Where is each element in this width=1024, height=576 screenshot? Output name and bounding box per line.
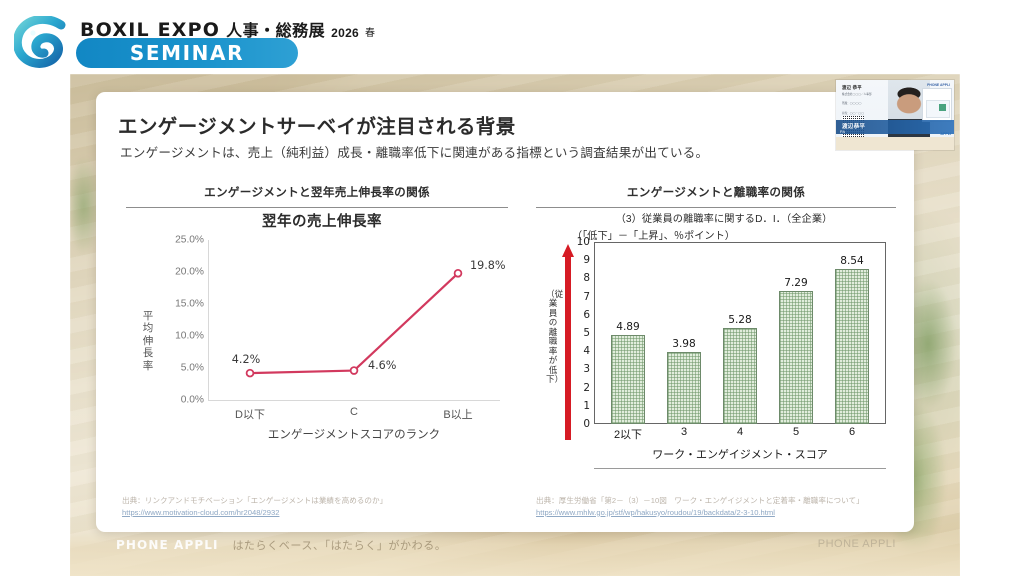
bar-chart-y-tick: 5 (583, 327, 590, 339)
section-header-left: エンゲージメントと翌年売上伸長率の関係 (126, 184, 508, 208)
line-chart-y-tick: 20.0% (175, 267, 204, 278)
expo-year: 2026 (331, 26, 359, 41)
bar-chart-x-tick: 5 (777, 426, 815, 442)
phone-appli-watermark: PHONE APPLI (818, 538, 896, 550)
bar-chart-x-tick: 6 (833, 426, 871, 442)
line-chart-y-axis-label: 平均伸長率 (140, 310, 156, 372)
up-arrow-icon (562, 244, 574, 440)
seminar-pill: SEMINAR (76, 38, 298, 68)
line-chart-title: 翌年の売上伸長率 (118, 210, 526, 231)
footnote-left: 出典：リンクアンドモチベーション「エンゲージメントは業績を高めるのか」 http… (122, 495, 522, 518)
bar-chart-bar-group: 8.54 (833, 242, 871, 424)
bar-chart-x-tick: 4 (721, 426, 759, 442)
line-chart-x-axis-line (208, 400, 500, 401)
bar-chart-bar-group: 5.28 (721, 242, 759, 424)
line-chart-y-tick: 5.0% (181, 363, 204, 374)
section-header-left-label: エンゲージメントと翌年売上伸長率の関係 (126, 184, 508, 200)
line-chart-y-tick: 15.0% (175, 299, 204, 310)
bar-chart-y-tick: 7 (583, 291, 590, 303)
bar-chart-title: （3）従業員の離職率に関するD．I．（全企業） (550, 210, 898, 225)
slide-subtitle: エンゲージメントは、売上（純利益）成長・離職率低下に関連がある指標という調査結果… (120, 142, 708, 161)
bar-chart-bars: 4.893.985.287.298.54 (594, 242, 886, 424)
bar-chart-y-tick: 6 (583, 309, 590, 321)
presentation-slide: エンゲージメントサーベイが注目される背景 エンゲージメントは、売上（純利益）成長… (96, 92, 914, 532)
section-header-right-label: エンゲージメントと離職率の関係 (536, 184, 896, 200)
bar-chart-x-tick: 2以下 (609, 426, 647, 442)
bar-chart-y-tick: 9 (583, 254, 590, 266)
pip-bottom-bar (836, 137, 954, 150)
section-divider-right (536, 207, 896, 208)
bar-chart-y-tick: 8 (583, 272, 590, 284)
line-chart: 翌年の売上伸長率 平均伸長率 0.0%5.0%10.0%15.0%20.0%25… (126, 210, 526, 460)
pip-meta-line-1: 所属：◯◯◯◯ (842, 102, 890, 106)
pip-panel-accent (939, 104, 946, 111)
pip-panel-label: PHONE APPLI (927, 83, 950, 87)
bar-chart-y-tick: 3 (583, 363, 590, 375)
bar-chart-y-ticks: 012345678910 (574, 242, 590, 424)
expo-season: 春 (365, 24, 375, 41)
bar-chart-value-label: 5.28 (728, 314, 752, 326)
line-chart-plot: 平均伸長率 0.0%5.0%10.0%15.0%20.0%25.0% 4.2%4… (126, 240, 526, 422)
line-chart-data-label: 4.6% (368, 359, 396, 372)
footnote-right: 出典：厚生労働省「第2－（3）－10図 ワーク・エンゲイジメントと定着率・離職率… (536, 495, 906, 518)
bar-chart-y-tick: 2 (583, 382, 590, 394)
bar-chart-y-axis-label: （従業員の離職率が低下） (546, 290, 560, 385)
footnote-right-link[interactable]: https://www.mhlw.go.jp/stf/wp/hakusyo/ro… (536, 508, 775, 517)
bar-chart-bar (667, 352, 701, 424)
line-chart-data-label: 4.2% (232, 353, 260, 366)
bar-chart-y-tick: 4 (583, 345, 590, 357)
footnote-left-link[interactable]: https://www.motivation-cloud.com/hr2048/… (122, 508, 279, 517)
pip-panel-box (926, 100, 950, 118)
section-header-right: エンゲージメントと離職率の関係 (536, 184, 896, 208)
line-chart-x-axis-label: エンゲージメントスコアのランク (208, 426, 500, 442)
line-chart-x-tick: C (350, 406, 358, 418)
bar-chart-bar (611, 335, 645, 424)
pip-speaker-name: 渡辺 恭平 (842, 85, 890, 91)
webcam-pip[interactable]: 渡辺 恭平 株式会社◯◯◯／人事部 所属：◯◯◯◯ 担当：◯◯・◯◯ PHONE… (836, 80, 954, 150)
boxil-swirl-logo-icon (14, 16, 76, 68)
line-chart-x-tick: D以下 (235, 406, 265, 422)
pip-speaker-role: 株式会社◯◯◯／人事部 (842, 93, 890, 97)
line-chart-y-tick: 10.0% (175, 331, 204, 342)
slide-title: エンゲージメントサーベイが注目される背景 (118, 110, 516, 139)
phone-appli-branding: PHONE APPLI はたらくベース、「はたらく」がかわる。 (116, 537, 446, 553)
line-chart-data-label: 19.8% (470, 259, 506, 272)
pip-badge-prefix: PA (840, 130, 845, 134)
bar-chart-value-label: 3.98 (672, 338, 696, 350)
bar-chart-bar (779, 291, 813, 424)
line-chart-y-tick: 0.0% (181, 395, 204, 406)
bar-chart: （3）従業員の離職率に関するD．I．（全企業） （「低下」－「上昇」、％ポイント… (536, 210, 898, 460)
bar-chart-baseline (594, 468, 886, 469)
bar-chart-subtitle: （「低下」－「上昇」、％ポイント） (572, 227, 898, 242)
line-chart-y-tick: 25.0% (175, 235, 204, 246)
bar-chart-y-tick: 1 (583, 400, 590, 412)
bar-chart-plot: （従業員の離職率が低下） 012345678910 4.893.985.287.… (536, 242, 898, 447)
seminar-pill-label: SEMINAR (130, 41, 244, 65)
section-divider-left (126, 207, 508, 208)
pip-speaker-card: 渡辺 恭平 株式会社◯◯◯／人事部 所属：◯◯◯◯ 担当：◯◯・◯◯ (842, 85, 890, 116)
bar-chart-x-ticks: 2以下3456 (594, 426, 886, 442)
bar-chart-value-label: 4.89 (616, 321, 640, 333)
footnote-right-source: 出典：厚生労働省「第2－（3）－10図 ワーク・エンゲイジメントと定着率・離職率… (536, 495, 906, 506)
line-chart-series (208, 240, 500, 400)
top-banner: BOXIL EXPO 人事・総務展 2026 春 SEMINAR (0, 0, 1024, 74)
bar-chart-bar-group: 4.89 (609, 242, 647, 424)
bar-chart-value-label: 8.54 (840, 255, 864, 267)
bar-chart-x-tick: 3 (665, 426, 703, 442)
bar-chart-y-tick: 0 (583, 418, 590, 430)
bar-chart-bar (835, 269, 869, 424)
screen-root: BOXIL EXPO 人事・総務展 2026 春 SEMINAR PHONE A… (0, 0, 1024, 576)
bar-chart-bar (723, 328, 757, 424)
phone-appli-logo: PHONE APPLI (116, 538, 219, 552)
line-chart-y-ticks: 0.0%5.0%10.0%15.0%20.0%25.0% (160, 240, 204, 400)
bar-chart-y-tick: 10 (577, 236, 590, 248)
line-chart-x-tick: B以上 (443, 406, 472, 422)
bar-chart-value-label: 7.29 (784, 277, 808, 289)
bar-chart-bar-group: 7.29 (777, 242, 815, 424)
phone-appli-tagline: はたらくベース、「はたらく」がかわる。 (233, 537, 447, 553)
bar-chart-x-axis-label: ワーク・エンゲイジメント・スコア (594, 446, 886, 462)
bar-chart-bar-group: 3.98 (665, 242, 703, 424)
pip-name-band-text: 渡辺恭平 (842, 122, 865, 130)
footnote-left-source: 出典：リンクアンドモチベーション「エンゲージメントは業績を高めるのか」 (122, 495, 522, 506)
